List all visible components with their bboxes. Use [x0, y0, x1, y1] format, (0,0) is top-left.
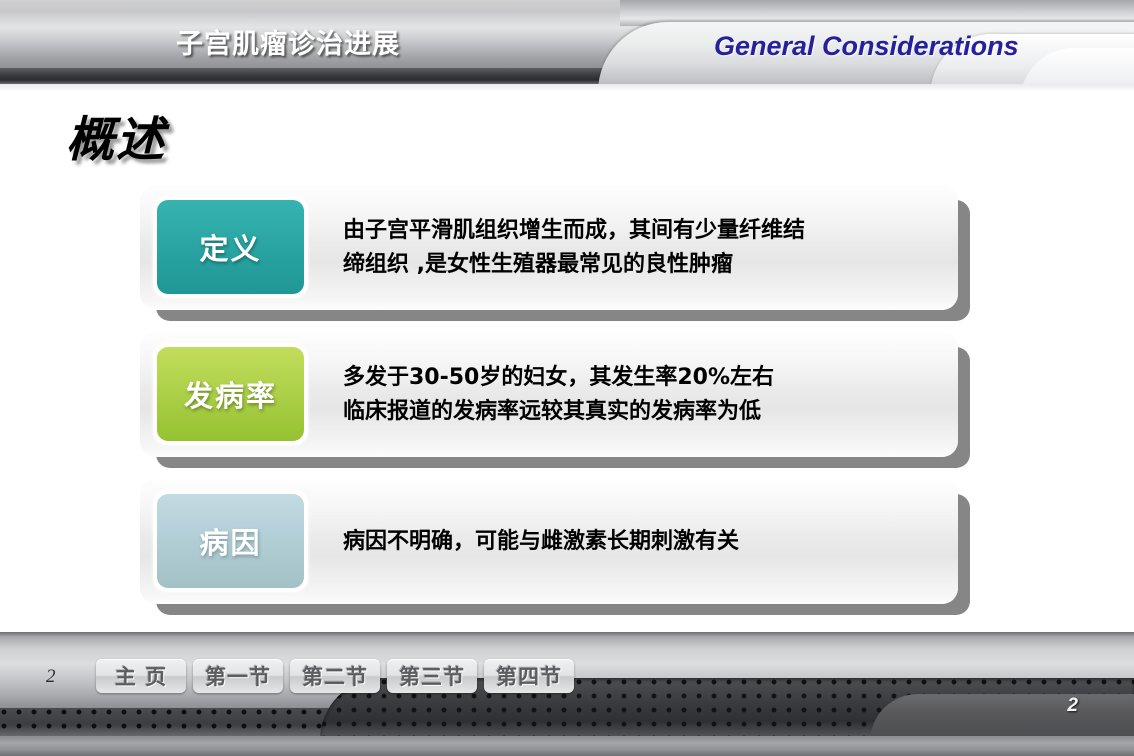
- card-text-block: 病因不明确，可能与雌激素长期刺激有关: [343, 479, 940, 604]
- nav-button-section-2[interactable]: 第二节: [290, 659, 380, 693]
- nav-button-section-3[interactable]: 第三节: [387, 659, 477, 693]
- page-title: 概述: [66, 100, 166, 170]
- card-badge-etiology: 病因: [157, 494, 304, 588]
- content-card: 定义 由子宫平滑肌组织增生而成，其间有少量纤维结 缔组织 ,是女性生殖器最常见的…: [140, 185, 958, 310]
- slide-header: 子宫肌瘤诊治进展 General Considerations: [0, 0, 1134, 92]
- card-text-block: 由子宫平滑肌组织增生而成，其间有少量纤维结 缔组织 ,是女性生殖器最常见的良性肿…: [343, 185, 940, 310]
- card-line: 由子宫平滑肌组织增生而成，其间有少量纤维结: [343, 214, 940, 247]
- card-line: 临床报道的发病率远较其真实的发病率为低: [343, 395, 940, 428]
- content-card-list: 定义 由子宫平滑肌组织增生而成，其间有少量纤维结 缔组织 ,是女性生殖器最常见的…: [140, 185, 975, 626]
- badge-frame: 发病率: [153, 343, 308, 445]
- footer-bottom-edge: [0, 736, 1134, 756]
- card-line: 缔组织 ,是女性生殖器最常见的良性肿瘤: [343, 248, 940, 281]
- badge-frame: 病因: [153, 490, 308, 592]
- nav-button-home[interactable]: 主 页: [96, 659, 186, 693]
- badge-frame: 定义: [153, 196, 308, 298]
- presentation-title: 子宫肌瘤诊治进展: [176, 22, 400, 61]
- card-badge-definition: 定义: [157, 200, 304, 294]
- page-number: 2: [1067, 695, 1078, 717]
- footer-navigation: 主 页 第一节 第二节 第三节 第四节: [96, 659, 574, 693]
- header-dark-band: [0, 68, 700, 84]
- content-card: 病因 病因不明确，可能与雌激素长期刺激有关: [140, 479, 958, 604]
- section-subtitle: General Considerations: [714, 31, 1019, 62]
- card-badge-incidence: 发病率: [157, 347, 304, 441]
- footer-dark-swoosh: [870, 694, 1134, 742]
- content-card: 发病率 多发于30-50岁的妇女，其发生率20%左右 临床报道的发病率远较其真实…: [140, 332, 958, 457]
- card-text-block: 多发于30-50岁的妇女，其发生率20%左右 临床报道的发病率远较其真实的发病率…: [343, 332, 940, 457]
- header-bottom-edge: [0, 84, 1134, 92]
- nav-button-section-1[interactable]: 第一节: [193, 659, 283, 693]
- slide: 子宫肌瘤诊治进展 General Considerations 概述 定义 由子…: [0, 0, 1134, 756]
- card-line: 多发于30-50岁的妇女，其发生率20%左右: [343, 361, 940, 394]
- footer-slide-number: 2: [46, 666, 56, 688]
- nav-button-section-4[interactable]: 第四节: [484, 659, 574, 693]
- card-line: 病因不明确，可能与雌激素长期刺激有关: [343, 525, 940, 558]
- slide-footer: [0, 632, 1134, 756]
